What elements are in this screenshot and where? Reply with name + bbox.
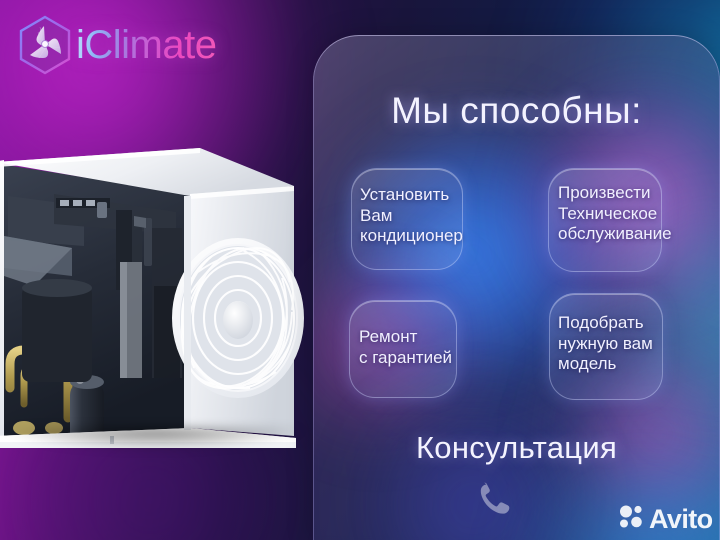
avito-dots-icon [619, 504, 644, 534]
avito-watermark: Avito [619, 504, 713, 534]
service-card-repair-label: Ремонт с гарантией [359, 327, 452, 368]
consultation-title: Консультация [313, 430, 720, 466]
avito-wordmark: Avito [649, 506, 713, 533]
services-panel: Мы способны: Установить Вам кондиционер … [313, 35, 720, 540]
brand-name: iClimate [76, 25, 216, 65]
service-card-select-label: Подобрать нужную вам модель [558, 313, 653, 375]
hexagon-fan-icon [16, 14, 74, 76]
phone-handset-icon[interactable] [473, 478, 517, 522]
promo-banner: iClimate Мы способны: Установить Вам кон… [0, 0, 720, 540]
air-conditioner-image [0, 136, 310, 448]
page-title: Мы способны: [313, 90, 720, 132]
air-conditioner-illustration [0, 136, 310, 448]
service-card-install-label: Установить Вам кондиционер [360, 185, 463, 247]
air-conditioner-shadow [4, 428, 304, 450]
brand-logo[interactable]: iClimate [16, 14, 216, 76]
service-card-maintenance-label: Произвести Техническое обслуживание [558, 183, 672, 245]
